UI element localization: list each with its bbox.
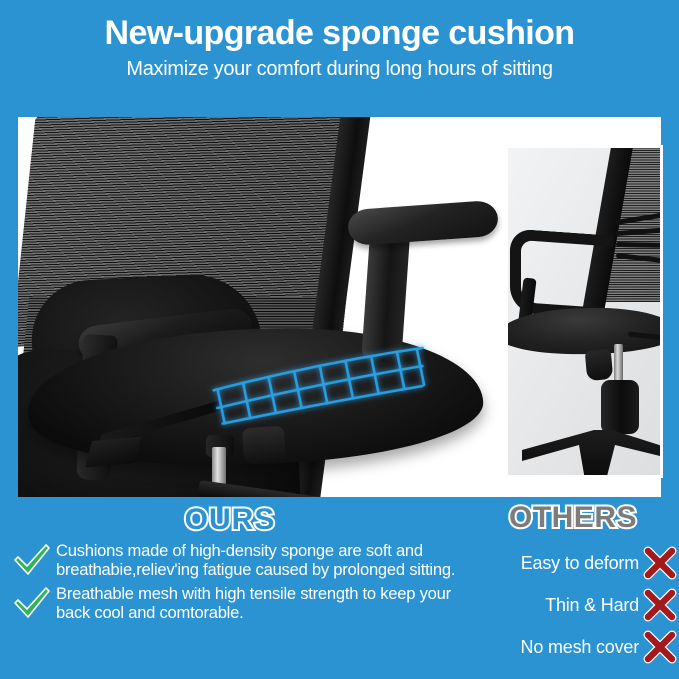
others-drawback-text: No mesh cover bbox=[521, 637, 639, 658]
cross-icon bbox=[641, 544, 679, 582]
header-banner: New-upgrade sponge cushion Maximize your… bbox=[0, 0, 679, 105]
ours-benefit-list: Cushions made of high-density sponge are… bbox=[12, 542, 472, 628]
check-icon bbox=[12, 586, 52, 620]
check-icon bbox=[12, 543, 52, 577]
others-heading: OTHERS bbox=[478, 501, 668, 535]
others-drawback-list: Easy to deform Thin & Hard bbox=[466, 544, 679, 670]
ours-benefit-text: Cushions made of high-density sponge are… bbox=[56, 542, 472, 579]
page-subtitle: Maximize your comfort during long hours … bbox=[0, 58, 679, 81]
ours-heading: OURS bbox=[130, 503, 330, 537]
cross-icon bbox=[641, 628, 679, 666]
chair-tension-knob bbox=[242, 426, 286, 465]
list-item: Cushions made of high-density sponge are… bbox=[12, 542, 472, 579]
competitor-product-photo bbox=[505, 145, 663, 478]
list-item: Thin & Hard bbox=[466, 586, 679, 624]
list-item: Easy to deform bbox=[466, 544, 679, 582]
competitor-tension-knob bbox=[585, 349, 614, 381]
page-title: New-upgrade sponge cushion bbox=[0, 14, 679, 53]
chair-right-armrest-pad bbox=[347, 200, 499, 246]
competitor-cylinder-cover bbox=[601, 380, 639, 434]
comparison-section: OURS OTHERS Cushions made of high-densit… bbox=[0, 497, 679, 679]
ours-benefit-text: Breathable mesh with high tensile streng… bbox=[56, 585, 472, 622]
others-drawback-text: Easy to deform bbox=[521, 553, 639, 574]
competitor-backrest-ribs bbox=[616, 220, 663, 258]
list-item: Breathable mesh with high tensile streng… bbox=[12, 585, 472, 622]
infographic-page: New-upgrade sponge cushion Maximize your… bbox=[0, 0, 679, 679]
others-drawback-text: Thin & Hard bbox=[545, 595, 639, 616]
cross-icon bbox=[641, 586, 679, 624]
list-item: No mesh cover bbox=[466, 628, 679, 666]
